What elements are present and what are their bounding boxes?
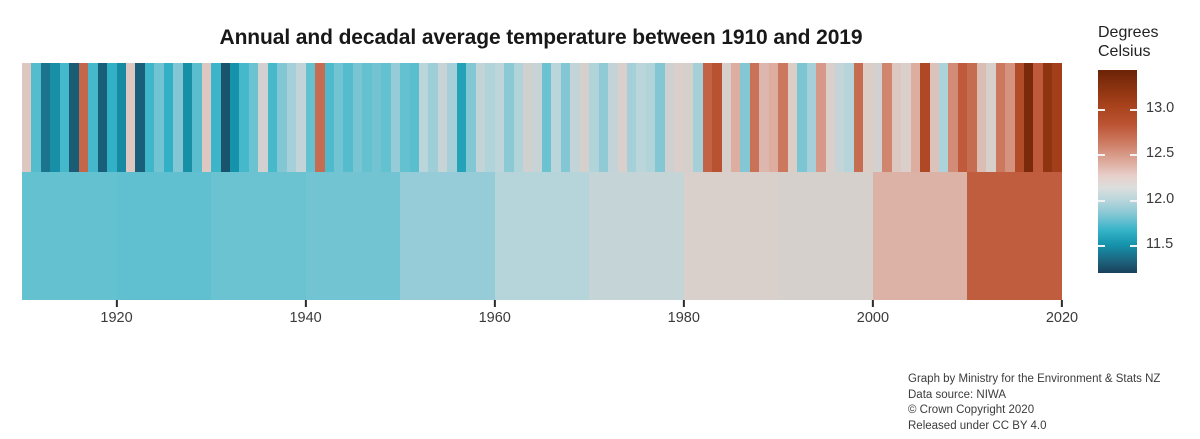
annual-stripe [844,63,853,172]
annual-stripe [911,63,920,172]
plot-area [22,63,1062,300]
annual-stripe [854,63,863,172]
colorbar-tick-label: 12.0 [1146,191,1174,207]
decadal-stripe [684,172,779,300]
annual-stripe [391,63,400,172]
annual-stripe [608,63,617,172]
annual-stripe [740,63,749,172]
tick-mark [305,300,307,307]
colorbar-gradient [1098,70,1137,273]
credit-line: © Crown Copyright 2020 [908,403,1160,419]
colorbar-scale: 13.012.512.011.5 [1098,70,1137,273]
colorbar-tick-mark [1098,154,1105,156]
annual-stripe [268,63,277,172]
annual-stripe [1024,63,1033,172]
annual-stripe [230,63,239,172]
annual-stripe [485,63,494,172]
annual-stripe [381,63,390,172]
annual-stripe [334,63,343,172]
x-axis: 192019401960198020002020 [22,300,1062,334]
annual-stripe [655,63,664,172]
tick-mark [116,300,118,307]
annual-stripe [211,63,220,172]
colorbar-tick-mark [1098,200,1105,202]
decadal-stripe [873,172,968,300]
decadal-stripe [117,172,212,300]
annual-stripe [69,63,78,172]
credit-line: Released under CC BY 4.0 [908,419,1160,435]
annual-stripe [665,63,674,172]
annual-stripe [466,63,475,172]
annual-stripe [154,63,163,172]
colorbar-tick-mark [1098,245,1105,247]
annual-stripe [476,63,485,172]
annual-stripe [79,63,88,172]
decadal-stripe [967,172,1062,300]
annual-stripe [410,63,419,172]
colorbar-tick-label: 11.5 [1146,236,1173,252]
annual-stripe [353,63,362,172]
annual-stripe [1033,63,1042,172]
colorbar-tick-label: 13.0 [1146,100,1174,116]
annual-stripe [693,63,702,172]
tick-label: 2020 [1046,310,1078,326]
colorbar-title-line2: Celsius [1098,43,1158,62]
x-axis-tick: 1920 [100,300,132,326]
decadal-stripe [306,172,401,300]
annual-stripe [258,63,267,172]
annual-stripe [542,63,551,172]
colorbar-tick-mark [1130,109,1137,111]
colorbar-tick-label: 12.5 [1146,145,1174,161]
annual-stripe [183,63,192,172]
annual-stripe [769,63,778,172]
annual-stripe [892,63,901,172]
annual-stripe [287,63,296,172]
annual-stripe [731,63,740,172]
annual-stripe [277,63,286,172]
annual-stripe [514,63,523,172]
annual-stripe [551,63,560,172]
annual-stripe [362,63,371,172]
annual-stripe [50,63,59,172]
annual-stripe [627,63,636,172]
annual-stripe [618,63,627,172]
annual-stripe [674,63,683,172]
x-axis-tick: 2000 [857,300,889,326]
annual-stripe [807,63,816,172]
annual-stripe [797,63,806,172]
decadal-stripes-band [22,172,1062,300]
annual-stripe [986,63,995,172]
decadal-stripe [589,172,684,300]
annual-stripe [173,63,182,172]
annual-stripe [372,63,381,172]
annual-stripe [249,63,258,172]
annual-stripe [419,63,428,172]
x-axis-tick: 1940 [289,300,321,326]
colorbar-tick-mark [1130,245,1137,247]
annual-stripe [816,63,825,172]
annual-stripe [1043,63,1052,172]
tick-label: 2000 [857,310,889,326]
annual-stripe [31,63,40,172]
annual-stripe [948,63,957,172]
annual-stripe [22,63,31,172]
page-title: Annual and decadal average temperature b… [0,26,1082,50]
annual-stripe [835,63,844,172]
annual-stripe [532,63,541,172]
annual-stripe [504,63,513,172]
annual-stripe [88,63,97,172]
colorbar: Degrees Celsius 13.012.512.011.5 [1098,24,1158,273]
annual-stripe [901,63,910,172]
annual-stripe [1005,63,1014,172]
annual-stripe [873,63,882,172]
annual-stripe [920,63,929,172]
decadal-stripe [495,172,590,300]
decadal-stripe [778,172,873,300]
decadal-stripe [211,172,306,300]
credit-line: Graph by Ministry for the Environment & … [908,372,1160,388]
climate-stripes-figure: Annual and decadal average temperature b… [0,0,1200,439]
annual-stripe [882,63,891,172]
annual-stripe [826,63,835,172]
annual-stripe [580,63,589,172]
colorbar-tick-mark [1130,154,1137,156]
annual-stripe [164,63,173,172]
annual-stripe [788,63,797,172]
tick-mark [1061,300,1063,307]
annual-stripe [221,63,230,172]
annual-stripe [759,63,768,172]
annual-stripe [977,63,986,172]
annual-stripe [1015,63,1024,172]
annual-stripe [457,63,466,172]
colorbar-tick-mark [1130,200,1137,202]
annual-stripe [930,63,939,172]
annual-stripe [306,63,315,172]
annual-stripe [561,63,570,172]
annual-stripe [778,63,787,172]
annual-stripe [428,63,437,172]
annual-stripe [712,63,721,172]
annual-stripes-band [22,63,1062,172]
annual-stripe [145,63,154,172]
tick-mark [494,300,496,307]
annual-stripe [996,63,1005,172]
annual-stripe [126,63,135,172]
annual-stripe [523,63,532,172]
colorbar-title: Degrees Celsius [1098,24,1158,62]
annual-stripe [1052,63,1061,172]
annual-stripe [135,63,144,172]
x-axis-tick: 1960 [479,300,511,326]
annual-stripe [447,63,456,172]
annual-stripe [703,63,712,172]
annual-stripe [438,63,447,172]
tick-label: 1920 [100,310,132,326]
credit-line: Data source: NIWA [908,388,1160,404]
annual-stripe [400,63,409,172]
tick-label: 1940 [289,310,321,326]
annual-stripe [239,63,248,172]
annual-stripe [343,63,352,172]
credits-block: Graph by Ministry for the Environment & … [908,372,1160,434]
decadal-stripe [22,172,117,300]
annual-stripe [570,63,579,172]
annual-stripe [202,63,211,172]
x-axis-tick: 2020 [1046,300,1078,326]
annual-stripe [192,63,201,172]
annual-stripe [296,63,305,172]
annual-stripe [750,63,759,172]
annual-stripe [646,63,655,172]
annual-stripe [958,63,967,172]
tick-mark [872,300,874,307]
annual-stripe [325,63,334,172]
annual-stripe [315,63,324,172]
annual-stripe [60,63,69,172]
annual-stripe [41,63,50,172]
annual-stripe [107,63,116,172]
annual-stripe [684,63,693,172]
tick-label: 1980 [668,310,700,326]
annual-stripe [599,63,608,172]
annual-stripe [117,63,126,172]
annual-stripe [863,63,872,172]
colorbar-tick-mark [1098,109,1105,111]
annual-stripe [722,63,731,172]
x-axis-tick: 1980 [668,300,700,326]
annual-stripe [589,63,598,172]
annual-stripe [636,63,645,172]
tick-mark [683,300,685,307]
tick-label: 1960 [479,310,511,326]
decadal-stripe [400,172,495,300]
annual-stripe [495,63,504,172]
annual-stripe [967,63,976,172]
annual-stripe [939,63,948,172]
colorbar-title-line1: Degrees [1098,24,1158,43]
annual-stripe [98,63,107,172]
